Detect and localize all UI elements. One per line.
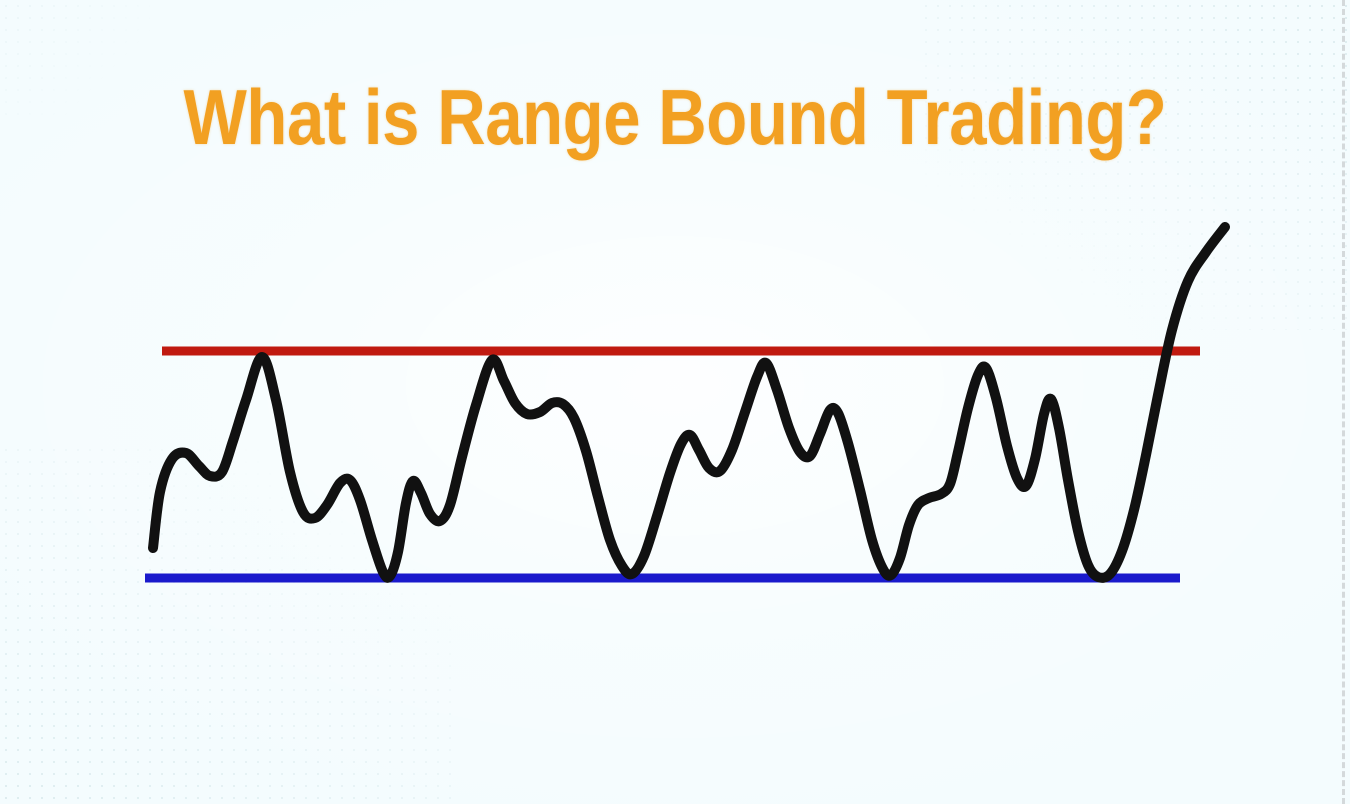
price-line	[153, 227, 1225, 578]
price-series-group	[153, 227, 1225, 578]
slide-canvas: What is Range Bound Trading?	[0, 0, 1350, 804]
range-bound-chart	[0, 0, 1350, 804]
